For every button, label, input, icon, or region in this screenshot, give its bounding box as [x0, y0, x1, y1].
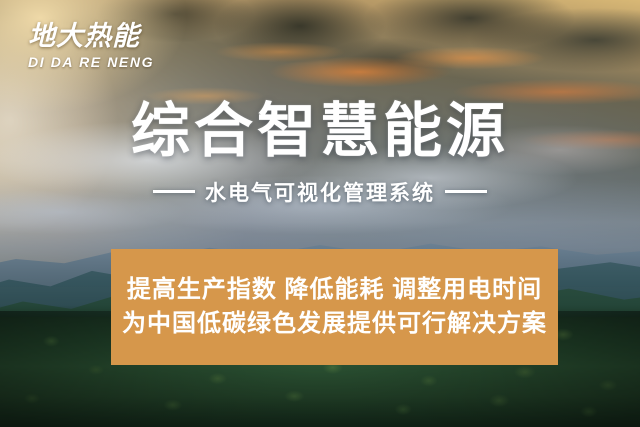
page-title: 综合智慧能源 — [0, 101, 640, 163]
tagline-line-1: 提高生产指数 降低能耗 调整用电时间 — [127, 277, 542, 303]
tagline-banner: 提高生产指数 降低能耗 调整用电时间 为中国低碳绿色发展提供可行解决方案 — [111, 249, 558, 365]
page-subtitle: 水电气可视化管理系统 — [0, 177, 640, 207]
subtitle-text: 水电气可视化管理系统 — [205, 177, 435, 207]
promotional-poster: 地大热能 DI DA RE NENG 综合智慧能源 水电气可视化管理系统 提高生… — [0, 0, 640, 427]
brand-logo: 地大热能 DI DA RE NENG — [28, 22, 178, 70]
brand-name-pinyin: DI DA RE NENG — [28, 54, 178, 70]
tagline-line-2: 为中国低碳绿色发展提供可行解决方案 — [122, 311, 547, 337]
brand-name-chinese: 地大热能 — [28, 22, 178, 51]
dash-left-icon — [153, 190, 195, 193]
dash-right-icon — [445, 190, 487, 193]
headline-block: 综合智慧能源 水电气可视化管理系统 — [0, 101, 640, 207]
